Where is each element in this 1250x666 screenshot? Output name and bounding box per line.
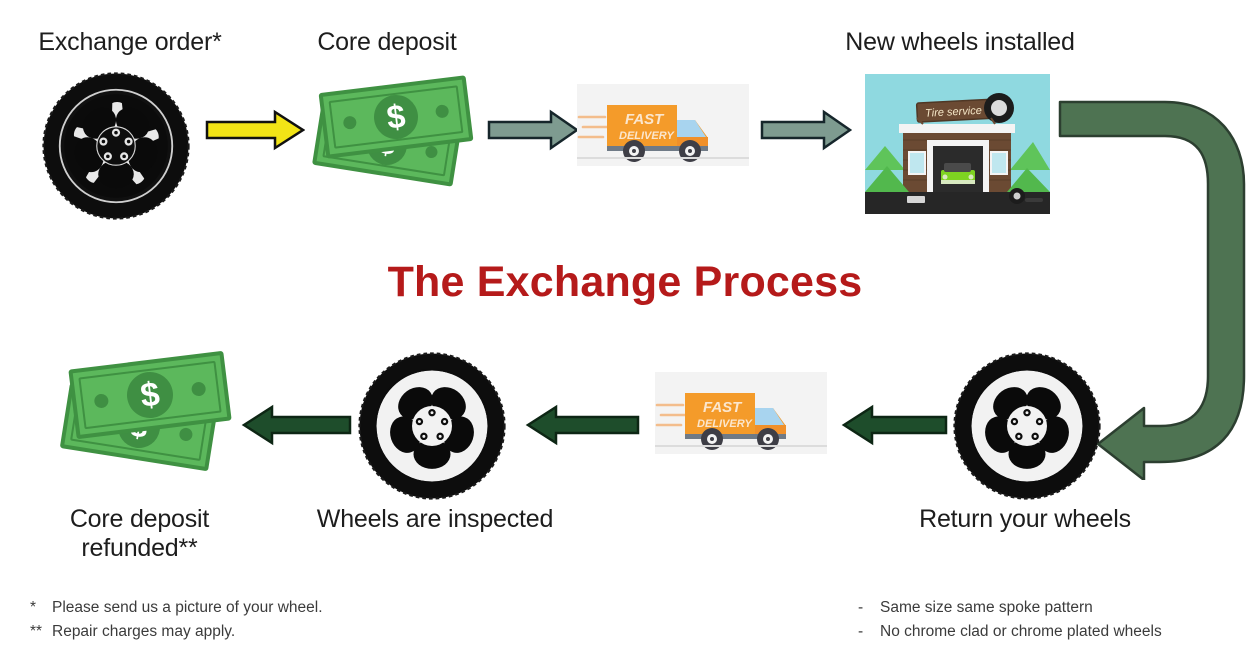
- arrow-shipping-to-install: [760, 108, 852, 157]
- arrow-shipping-back-to-inspect: [524, 403, 640, 452]
- arrow-exchange-to-deposit: [205, 108, 305, 157]
- step-label-wheels-inspected: Wheels are inspected: [290, 505, 580, 534]
- footnote-marker: -: [858, 596, 880, 620]
- footnote-text: No chrome clad or chrome plated wheels: [880, 623, 1162, 640]
- footnote-marker: **: [30, 620, 52, 644]
- arrow-deposit-to-shipping: [487, 108, 579, 157]
- step-label-core-deposit-refunded: Core deposit refunded**: [22, 505, 257, 563]
- step-label-core-deposit: Core deposit: [282, 28, 492, 57]
- money-icon: $ $: [310, 78, 480, 203]
- exchange-process-diagram: The Exchange Process Exchange order* Cor…: [0, 0, 1250, 666]
- wheel-icon: [953, 352, 1101, 500]
- delivery-truck-icon: FAST DELIVERY: [577, 84, 749, 166]
- delivery-truck-icon: FAST DELIVERY: [655, 372, 827, 454]
- step-label-new-wheels-installed: New wheels installed: [800, 28, 1120, 57]
- money-icon: $ $: [58, 352, 238, 484]
- footnote-left-2: **Repair charges may apply.: [30, 620, 235, 644]
- arrow-return-to-shipping-back: [840, 403, 948, 452]
- step-label-return-your-wheels: Return your wheels: [880, 505, 1170, 534]
- footnote-text: Same size same spoke pattern: [880, 599, 1093, 616]
- footnote-right-2: -No chrome clad or chrome plated wheels: [858, 620, 1162, 644]
- refund-label-line1: Core deposit: [70, 505, 209, 533]
- footnote-right-1: -Same size same spoke pattern: [858, 596, 1093, 620]
- refund-label-line2: refunded**: [81, 534, 197, 562]
- truck-line1: FAST: [625, 111, 665, 128]
- step-label-exchange-order: Exchange order*: [0, 28, 260, 57]
- wheel-icon: [42, 72, 190, 220]
- footnote-text: Please send us a picture of your wheel.: [52, 599, 323, 616]
- footnote-left-1: *Please send us a picture of your wheel.: [30, 596, 323, 620]
- wheel-icon: [358, 352, 506, 500]
- footnote-marker: -: [858, 620, 880, 644]
- footnote-text: Repair charges may apply.: [52, 623, 235, 640]
- truck-line1: FAST: [703, 399, 743, 416]
- truck-line2: DELIVERY: [619, 130, 675, 142]
- truck-line2: DELIVERY: [697, 418, 753, 430]
- tire-service-shop-icon: Tire service: [865, 74, 1050, 214]
- footnote-marker: *: [30, 596, 52, 620]
- arrow-inspect-to-refund: [240, 403, 352, 452]
